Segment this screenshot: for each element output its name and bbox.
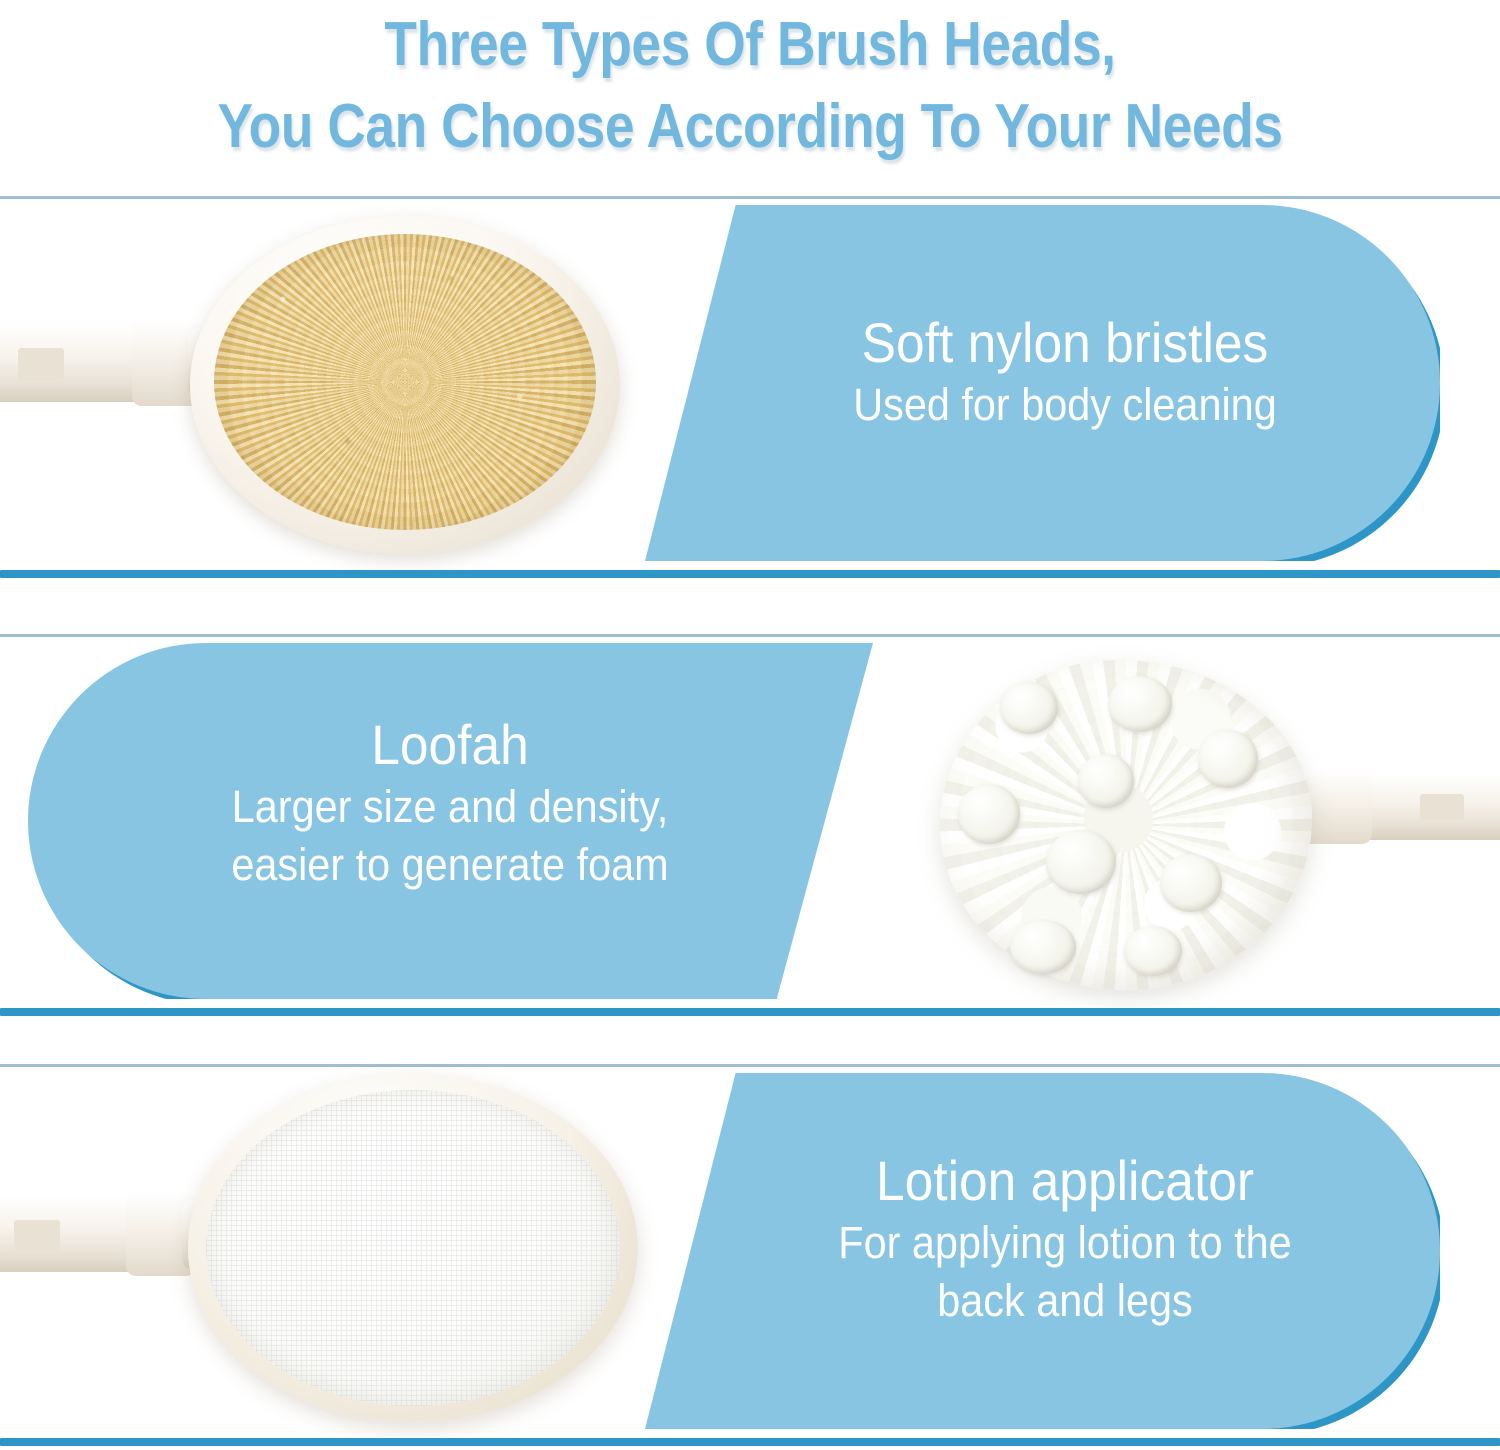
panel-bottom-divider bbox=[0, 570, 1500, 578]
feature-subtitle-line-2: back and legs bbox=[729, 1272, 1401, 1330]
feature-subtitle-line-2: easier to generate foam bbox=[128, 836, 772, 894]
panel-top-divider bbox=[0, 1064, 1500, 1067]
feature-panel-soft-nylon-bristles: Soft nylon bristles Used for body cleani… bbox=[0, 196, 1500, 578]
infographic-page: Three Types Of Brush Heads, You Can Choo… bbox=[0, 0, 1500, 1450]
feature-subtitle-line-1: Larger size and density, bbox=[128, 778, 772, 836]
panel-bottom-divider bbox=[0, 1438, 1500, 1446]
page-title: Three Types Of Brush Heads, You Can Choo… bbox=[0, 0, 1500, 190]
feature-title: Loofah bbox=[128, 712, 772, 778]
panel-bottom-divider bbox=[0, 1008, 1500, 1016]
feature-subtitle-line-1: Used for body cleaning bbox=[729, 376, 1401, 434]
feature-title: Lotion applicator bbox=[729, 1148, 1401, 1214]
panel-top-divider bbox=[0, 634, 1500, 637]
feature-panel-lotion-applicator: Lotion applicator For applying lotion to… bbox=[0, 1064, 1500, 1446]
feature-text-lotion-applicator: Lotion applicator For applying lotion to… bbox=[700, 1148, 1430, 1330]
page-title-line-2: You Can Choose According To Your Needs bbox=[105, 86, 1395, 168]
feature-subtitle-line-1: For applying lotion to the bbox=[729, 1214, 1401, 1272]
panel-top-divider bbox=[0, 196, 1500, 199]
page-title-line-1: Three Types Of Brush Heads, bbox=[105, 4, 1395, 86]
feature-panel-loofah: Loofah Larger size and density, easier t… bbox=[0, 634, 1500, 1016]
feature-text-soft-nylon-bristles: Soft nylon bristles Used for body cleani… bbox=[700, 310, 1430, 434]
feature-text-loofah: Loofah Larger size and density, easier t… bbox=[100, 712, 800, 894]
feature-title: Soft nylon bristles bbox=[729, 310, 1401, 376]
